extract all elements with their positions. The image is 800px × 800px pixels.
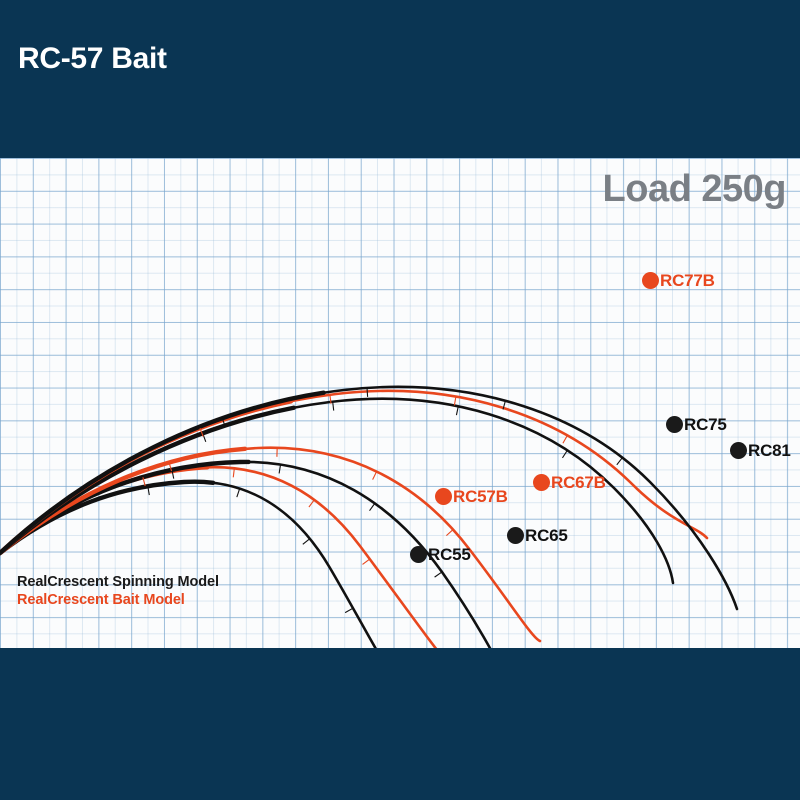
- rod-tip-marker-rc75: RC75: [666, 416, 727, 433]
- rod-tip-dot: [410, 546, 427, 563]
- rod-guide-tick: [345, 608, 353, 612]
- title-bar: RC-57 Bait: [0, 0, 800, 158]
- rod-guide-tick: [333, 402, 334, 411]
- legend-item-spinning: RealCrescent Spinning Model: [17, 573, 219, 592]
- rod-tip-dot: [666, 416, 683, 433]
- rod-tip-label: RC55: [428, 546, 471, 563]
- rod-tip-marker-rc55: RC55: [410, 546, 471, 563]
- rod-guide-tick: [435, 572, 442, 577]
- rod-butt-rc57b: [0, 467, 441, 648]
- rod-tip-label: RC81: [748, 442, 791, 459]
- rod-guide-tick: [370, 503, 375, 510]
- rod-guide-tick: [303, 539, 310, 545]
- load-caption: Load 250g: [603, 170, 786, 208]
- rod-guide-tick: [446, 530, 453, 536]
- rod-guide-tick: [456, 406, 458, 415]
- rod-bend-diagram-panel: Load 250g RC55RC57BRC65RC67BRC75RC77BRC8…: [0, 158, 800, 648]
- rod-guide-tick: [617, 458, 623, 465]
- rod-tip-label: RC75: [684, 416, 727, 433]
- rod-tip-marker-rc67b: RC67B: [533, 474, 606, 491]
- page-title: RC-57 Bait: [18, 44, 167, 74]
- rod-tip-marker-rc57b: RC57B: [435, 488, 508, 505]
- rod-tip-dot: [730, 442, 747, 459]
- rod-tip-label: RC77B: [660, 272, 715, 289]
- rod-guide-tick: [373, 472, 377, 480]
- rod-tip-marker-rc77b: RC77B: [642, 272, 715, 289]
- rod-guide-tick: [237, 489, 240, 498]
- rod-guide-tick: [233, 468, 234, 477]
- rod-guide-tick: [363, 559, 370, 564]
- rod-tip-label: RC57B: [453, 488, 508, 505]
- rod-guide-tick: [279, 465, 280, 474]
- rod-guide-tick: [454, 397, 456, 406]
- rod-guide-tick: [367, 388, 368, 397]
- rod-tip-dot: [642, 272, 659, 289]
- rod-tip-label: RC65: [525, 527, 568, 544]
- rod-tip-marker-rc81: RC81: [730, 442, 791, 459]
- rod-guide-tick: [309, 500, 314, 507]
- rod-guide-tick: [562, 450, 567, 458]
- rod-tip-dot: [533, 474, 550, 491]
- rod-guide-tick: [563, 435, 567, 443]
- rod-tip-dot: [435, 488, 452, 505]
- rod-tip-label: RC67B: [551, 474, 606, 491]
- rod-curve-rc57b: [0, 467, 441, 648]
- legend: RealCrescent Spinning Model RealCrescent…: [17, 573, 219, 610]
- diagram-screenshot: RC-57 Bait Load 250g RC55RC57BRC65RC67BR…: [0, 0, 800, 800]
- rod-tip-marker-rc65: RC65: [507, 527, 568, 544]
- rod-tip-dot: [507, 527, 524, 544]
- legend-item-bait: RealCrescent Bait Model: [17, 591, 219, 610]
